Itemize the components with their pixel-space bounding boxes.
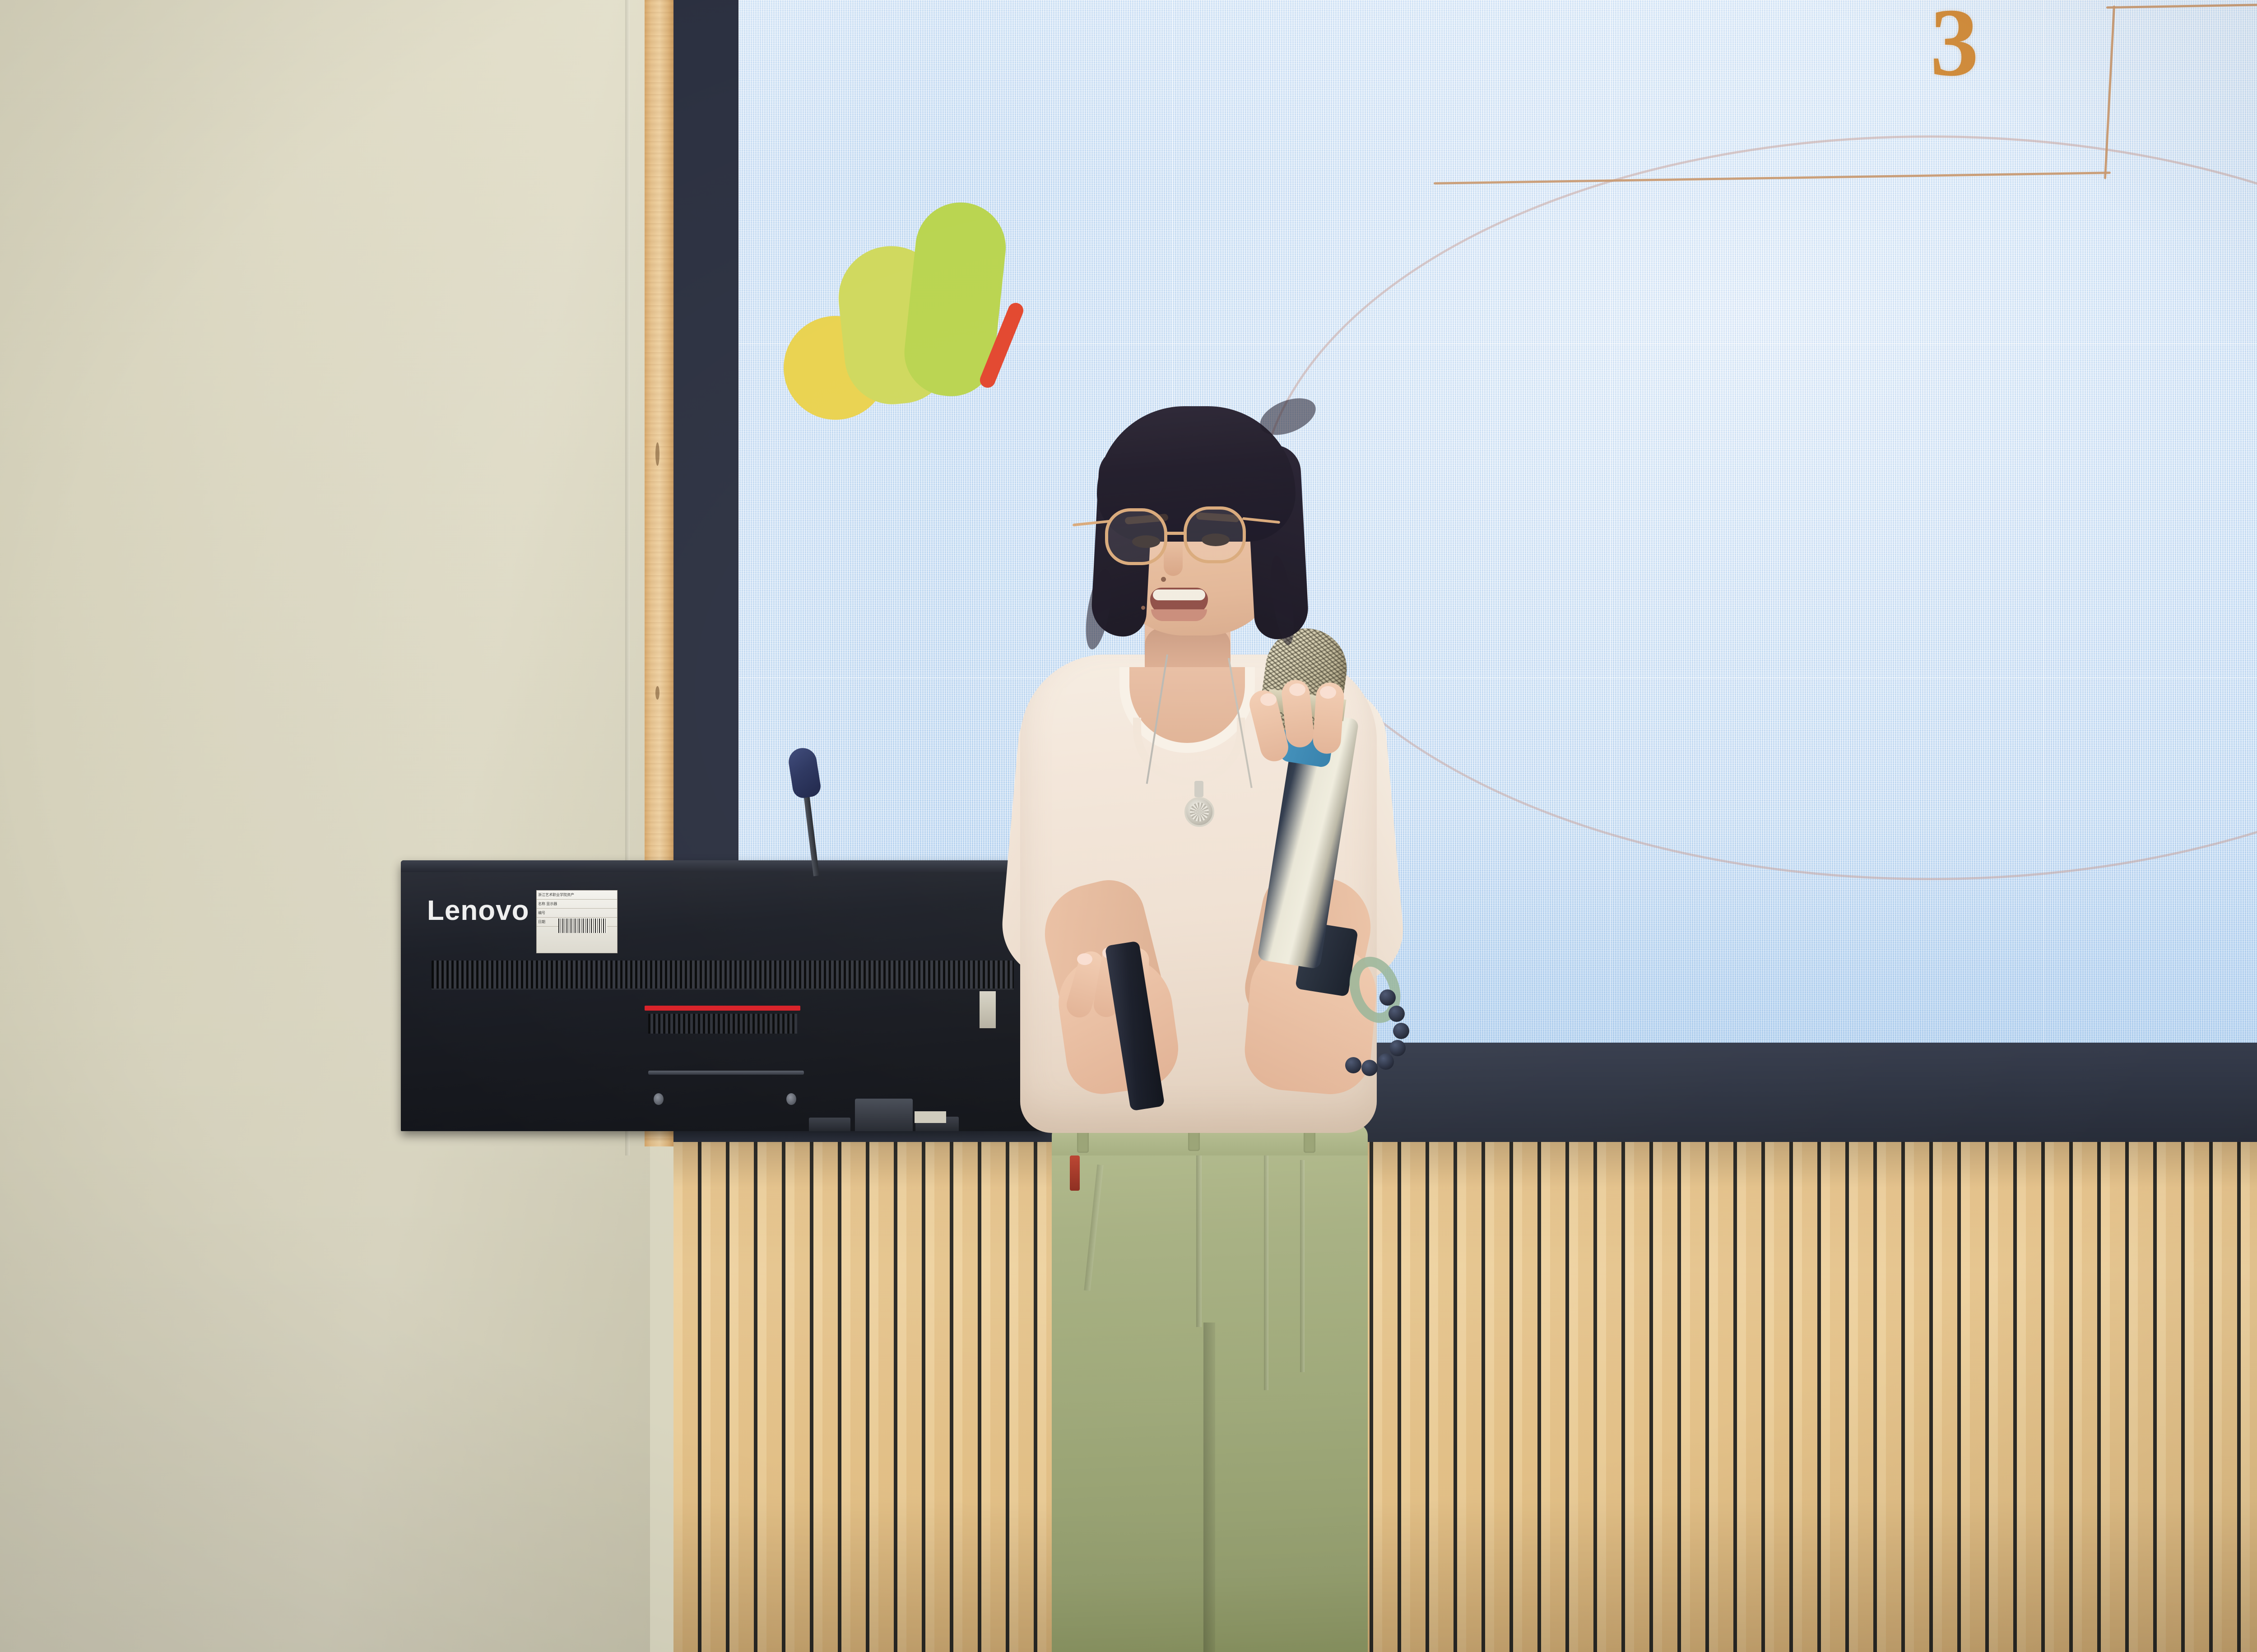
glasses-bridge <box>1165 532 1186 535</box>
asset-tag-barcode <box>558 919 607 933</box>
bracelet-bead <box>1379 989 1396 1006</box>
monitor-red-accent-strip <box>645 1006 800 1011</box>
lenovo-logo: Lenovo <box>427 895 529 927</box>
teeth <box>1153 589 1205 600</box>
fingernail <box>1260 693 1277 706</box>
lenovo-monitor: Lenovo 浙江艺术职业学院资产 名称 显示器 编号 日期 <box>401 860 1046 1131</box>
asset-tag-sticker: 浙江艺术职业学院资产 名称 显示器 编号 日期 <box>536 890 618 953</box>
monitor-top-bevel <box>401 860 1046 872</box>
asset-tag-line2: 名称 显示器 <box>537 900 617 909</box>
vesa-screw <box>654 1093 664 1105</box>
fingernail <box>1320 686 1336 699</box>
asset-tag-line1: 浙江艺术职业学院资产 <box>537 891 617 900</box>
trousers-leg-split <box>1203 1323 1215 1652</box>
fingernail <box>1289 683 1305 696</box>
podium-red-tag <box>1070 1155 1080 1191</box>
slide-accent-line-top <box>2106 3 2257 9</box>
bracelet-bead <box>1389 1040 1406 1056</box>
trousers-fly <box>1196 1155 1202 1327</box>
trousers-pleat <box>1300 1160 1305 1372</box>
presenter <box>984 420 1526 1652</box>
glasses-lens-right <box>1184 506 1246 563</box>
monitor-vesa-plate <box>648 1071 804 1075</box>
vesa-screw <box>786 1093 796 1105</box>
facial-mole <box>1141 606 1145 610</box>
trousers-pleat <box>1264 1155 1268 1390</box>
wall-shading <box>0 0 650 1652</box>
bracelet-bead <box>1345 1057 1361 1073</box>
necklace-bar <box>1194 781 1203 797</box>
monitor-vent-wide <box>432 961 1014 988</box>
lecture-hall-photo: 3 <box>0 0 2257 1652</box>
wood-knot <box>655 442 659 466</box>
fingernail <box>1077 953 1092 965</box>
monitor-stand-neck <box>855 1099 913 1131</box>
lower-lip <box>1151 609 1207 621</box>
bracelet-bead <box>1393 1023 1409 1039</box>
bracelet-bead <box>1378 1053 1394 1070</box>
necklace-pendant-inner <box>1190 803 1209 821</box>
bracelet-bead <box>1389 1006 1405 1022</box>
glasses-lens-left <box>1105 508 1167 565</box>
monitor-stand-label <box>915 1111 946 1123</box>
asset-tag-line3: 编号 <box>537 909 617 918</box>
facial-mole <box>1161 577 1166 582</box>
bracelet-bead <box>1361 1060 1378 1076</box>
slide-number: 3 <box>1930 0 1979 98</box>
monitor-vent-narrow <box>648 1014 797 1034</box>
wood-knot <box>655 686 659 700</box>
monitor-stand-leg <box>809 1118 850 1131</box>
